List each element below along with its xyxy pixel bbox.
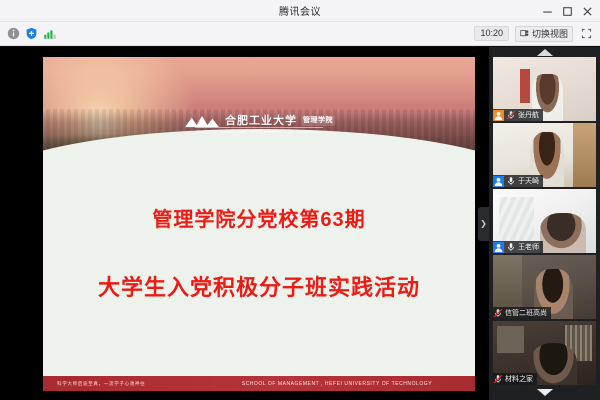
layout-switch-icon [520,29,529,38]
slide-headline-2: 大学生入党积极分子班实践活动 [98,270,420,302]
participant-nameplate: 张丹航 [493,109,543,121]
slide-headline-1: 管理学院分党校第63期 [152,203,365,232]
signal-bars-icon[interactable] [43,27,56,40]
slide-footer-chinese: 科学大师启迪至真，一流学子心驰神往 [43,381,145,387]
minimize-button[interactable] [538,2,556,20]
participant-tile[interactable]: 于天崎 [493,123,596,187]
maximize-button[interactable] [558,2,576,20]
switch-view-button[interactable]: 切换视图 [515,26,573,42]
participant-name: 信管二班高尚 [505,309,547,318]
toolbar-right-controls: 10:20 切换视图 [474,26,600,42]
participant-name: 于天崎 [518,177,539,186]
meeting-window: 腾讯会议 [0,0,600,400]
avatar [493,242,504,253]
participant-name: 王老师 [518,243,539,252]
avatar [493,176,504,187]
background-shelf [565,325,592,361]
participant-name: 张丹航 [518,111,539,120]
participant-tile[interactable]: 王老师 [493,189,596,253]
mic-on-icon [506,176,516,186]
close-button[interactable] [578,2,596,20]
logo-college-name: 管理学院 [301,116,335,126]
scroll-down-arrow[interactable] [537,389,553,396]
chevron-right-icon: ❯ [480,220,487,228]
avatar [493,110,504,121]
shared-screen-stage[interactable]: 合肥工业大学 管理学院 SCHOOL OF MANAGEMENT , HEFEI… [0,47,489,400]
fullscreen-icon[interactable] [579,27,593,41]
title-bar: 腾讯会议 [0,0,600,22]
participant-nameplate: 王老师 [493,241,543,253]
toolbar-left-icons [0,27,56,40]
participant-tile-list: 张丹航于天崎王老师信管二班高尚材料之家 [489,57,600,387]
presentation-slide: 合肥工业大学 管理学院 SCHOOL OF MANAGEMENT , HEFEI… [43,57,475,391]
logo-divider [195,127,323,128]
slide-footer: 科学大师启迪至真，一流学子心驰神往 SCHOOL OF MANAGEMENT ,… [43,376,475,391]
mic-muted-icon [493,308,503,318]
slide-text-block: 管理学院分党校第63期 大学生入党积极分子班实践活动 [43,169,475,376]
switch-view-label: 切换视图 [532,28,568,40]
participant-nameplate: 材料之家 [493,373,537,385]
collapse-sidebar-handle[interactable]: ❯ [478,207,489,241]
participant-nameplate: 信管二班高尚 [493,307,551,319]
shield-icon[interactable] [25,27,38,40]
meeting-toolbar: 10:20 切换视图 [0,22,600,46]
window-title: 腾讯会议 [279,3,321,18]
participant-name: 材料之家 [505,375,533,384]
participant-tile[interactable]: 材料之家 [493,321,596,385]
meeting-time: 10:20 [474,26,509,41]
window-controls [538,0,596,22]
participant-nameplate: 于天崎 [493,175,543,187]
participant-sidebar[interactable]: 张丹航于天崎王老师信管二班高尚材料之家 [489,47,600,400]
mic-muted-icon [493,374,503,384]
logo-english-name: SCHOOL OF MANAGEMENT , HEFEI UNIVERSITY … [196,130,323,134]
mic-on-icon [506,242,516,252]
info-icon[interactable] [7,27,20,40]
participant-tile[interactable]: 张丹航 [493,57,596,121]
participant-tile[interactable]: 信管二班高尚 [493,255,596,319]
scroll-up-arrow[interactable] [537,49,553,56]
mic-muted-icon [506,110,516,120]
slide-footer-english: SCHOOL OF MANAGEMENT , HEFEI UNIVERSITY … [242,381,432,387]
logo-chinese-name: 合肥工业大学 [225,115,297,127]
